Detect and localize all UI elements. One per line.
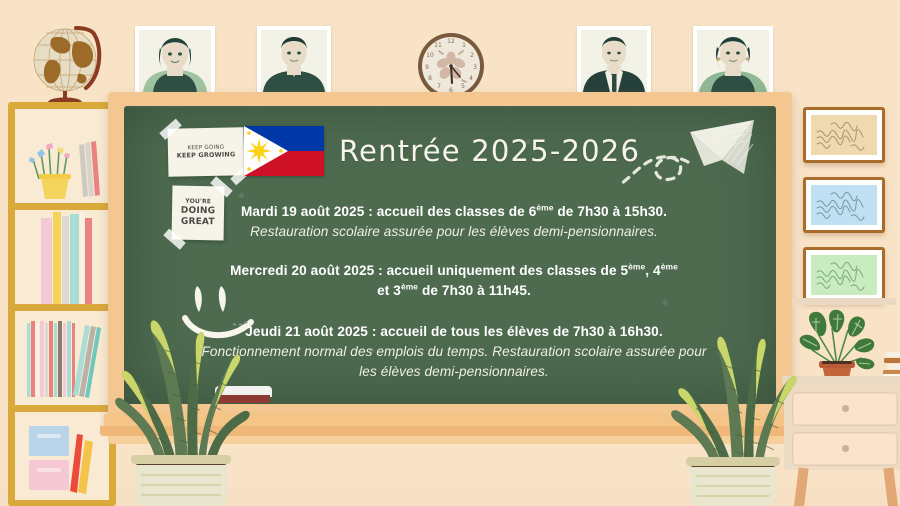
svg-text:2: 2 [470,52,474,59]
drawer-knob-top[interactable] [842,405,849,412]
svg-text:7: 7 [437,83,441,90]
svg-text:10: 10 [426,52,434,59]
bay-thin-books [15,311,109,405]
drawer-top[interactable] [792,392,898,426]
jeudi-subline: Fonctionnement normal des emplois du tem… [194,342,714,383]
bay-upright-books [15,210,109,304]
mercredi-headline: Mercredi 20 août 2025 : accueil uniqueme… [194,261,714,281]
schedule-item-mardi: Mardi 19 août 2025 : accueil des classes… [194,202,714,242]
portrait-man-left [257,26,331,96]
desk-globe [24,18,108,104]
framed-note-2 [803,177,885,233]
mardi-subline: Restauration scolaire assurée pour les é… [194,222,714,242]
framed-note-1 [803,107,885,163]
plant-pot-right [690,464,776,506]
mardi-headline: Mardi 19 août 2025 : accueil des classes… [194,202,714,222]
svg-text:8: 8 [428,75,432,82]
svg-text:3: 3 [473,64,477,71]
plant-pot-left [135,462,227,506]
snake-plant-left [106,280,256,506]
sticky-note-keep-going: KEEP GOING KEEP GROWING [168,127,245,177]
bay-boxes-books [15,412,109,500]
svg-text:11: 11 [434,42,442,49]
svg-text:12: 12 [447,38,455,45]
framed-note-3 [803,247,885,303]
drawer-bottom[interactable] [792,432,898,466]
schedule-item-mercredi: Mercredi 20 août 2025 : accueil uniqueme… [194,261,714,300]
philippines-flag [244,126,324,176]
mercredi-headline-line2: et 3ème de 7h30 à 11h45. [194,281,714,301]
jeudi-headline: Jeudi 21 août 2025 : accueil de tous les… [194,322,714,342]
poster-scene: 1212 345 678 91011 [0,0,900,506]
portrait-man-right [577,26,651,96]
portrait-woman-left [135,26,215,96]
desk-top-shelf [792,298,896,305]
drawer-knob-bottom[interactable] [842,445,849,452]
svg-text:4: 4 [469,75,473,82]
snake-plant-right [664,300,802,506]
page-title: Rentrée 2025-2026 [339,134,640,168]
schedule-item-jeudi: Jeudi 21 août 2025 : accueil de tous les… [194,322,714,382]
portrait-woman-right [693,26,773,96]
bay-flowers-books [15,109,109,203]
svg-text:1: 1 [462,42,466,49]
svg-text:5: 5 [461,83,465,90]
bookshelf [8,102,116,506]
svg-text:9: 9 [425,64,429,71]
note1-line2: KEEP GROWING [177,151,236,160]
